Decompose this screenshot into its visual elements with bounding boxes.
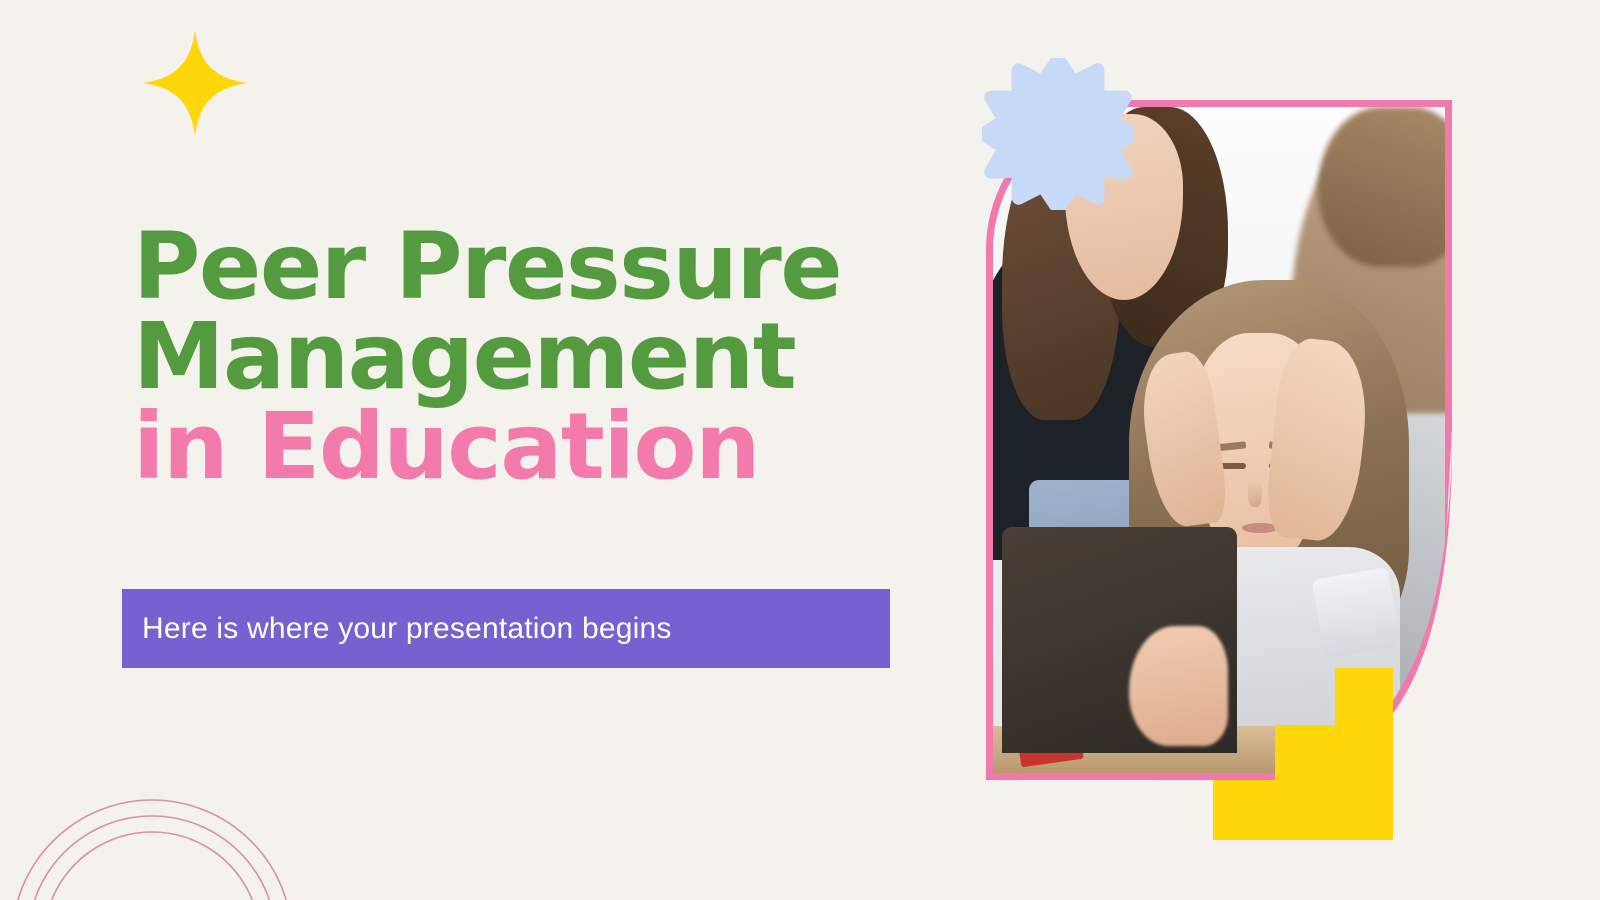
blue-starburst-icon bbox=[982, 58, 1134, 210]
presentation-slide: Peer Pressure Management in Education He… bbox=[0, 0, 1600, 900]
yellow-staircase-icon bbox=[1213, 668, 1393, 840]
pink-concentric-arcs-icon bbox=[0, 735, 350, 900]
subtitle-text: Here is where your presentation begins bbox=[122, 612, 672, 646]
title-line-2: Management bbox=[133, 312, 933, 402]
subtitle-bar[interactable]: Here is where your presentation begins bbox=[122, 589, 890, 668]
slide-title: Peer Pressure Management in Education bbox=[133, 222, 933, 492]
yellow-four-point-star-icon bbox=[140, 28, 250, 138]
title-line-1: Peer Pressure bbox=[133, 222, 933, 312]
title-line-3: in Education bbox=[133, 402, 933, 492]
